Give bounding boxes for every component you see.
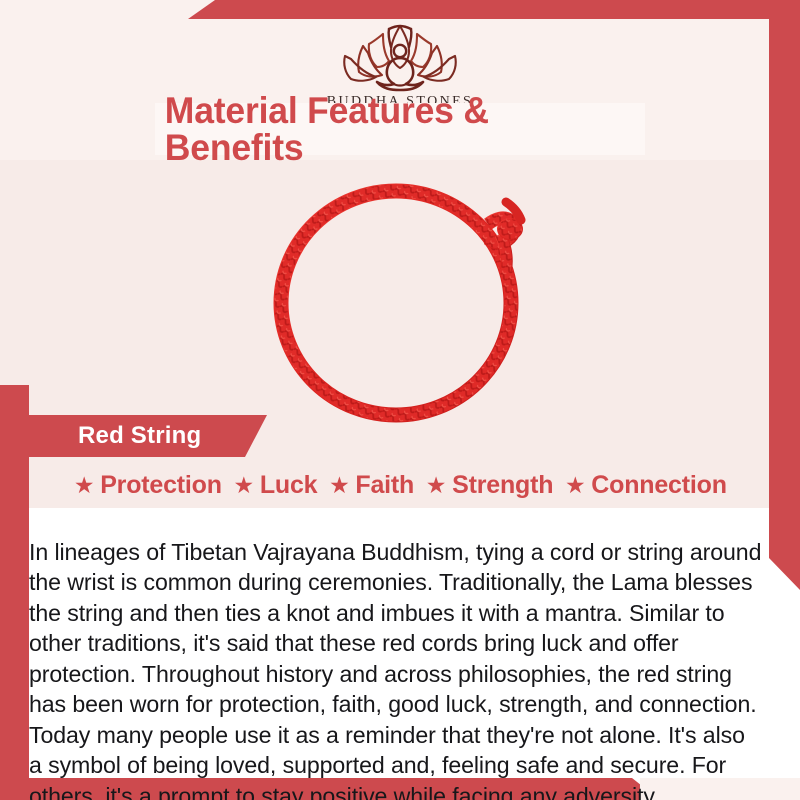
benefit-label: Connection (591, 471, 727, 500)
star-icon: ★ (233, 474, 255, 496)
page-title: Material Features & Benefits (165, 92, 635, 166)
benefit-label: Luck (260, 471, 318, 500)
star-icon: ★ (328, 474, 350, 496)
benefit-label: Faith (355, 471, 414, 500)
page-title-panel: Material Features & Benefits (155, 103, 645, 155)
benefit-item-protection: ★ Protection (73, 471, 222, 500)
benefit-item-luck: ★ Luck (233, 471, 318, 500)
material-banner: Red String (19, 415, 267, 457)
star-icon: ★ (73, 474, 95, 496)
star-icon: ★ (425, 474, 447, 496)
product-infographic: BUDDHA STONES Material Features & Benefi… (0, 0, 800, 800)
description-paragraph: In lineages of Tibetan Vajrayana Buddhis… (29, 537, 763, 800)
benefit-label: Protection (100, 471, 222, 500)
material-name: Red String (78, 422, 201, 450)
benefit-item-strength: ★ Strength (425, 471, 553, 500)
benefits-row: ★ Protection ★ Luck ★ Faith ★ Strength ★… (0, 465, 800, 505)
lotus-meditation-icon (325, 20, 475, 92)
product-photo (238, 162, 568, 430)
red-string-bracelet-image (238, 162, 568, 430)
benefit-item-connection: ★ Connection (564, 471, 727, 500)
benefit-item-faith: ★ Faith (328, 471, 414, 500)
benefit-label: Strength (452, 471, 553, 500)
star-icon: ★ (564, 474, 586, 496)
